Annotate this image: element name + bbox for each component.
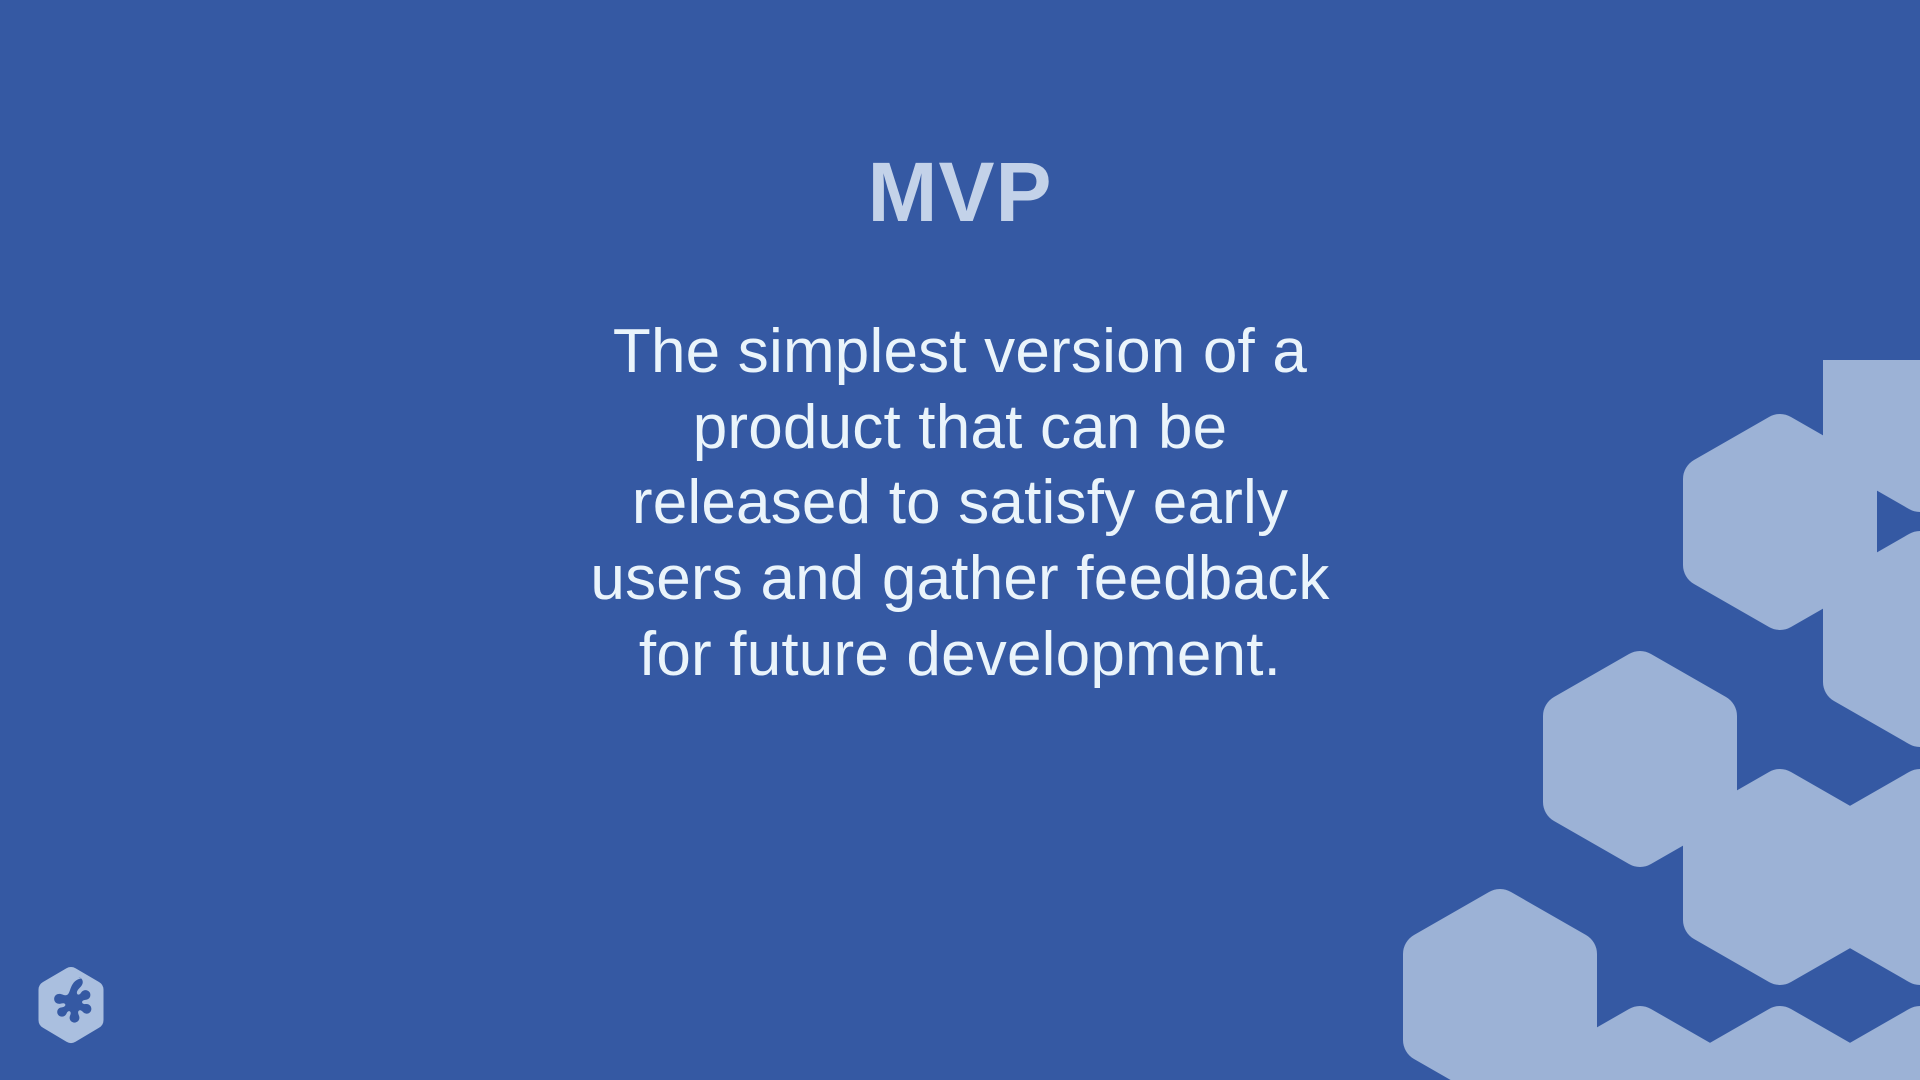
definition-line: for future development. [510,617,1410,693]
slide-canvas: MVP The simplest version of a product th… [0,0,1920,1080]
slide-content: MVP The simplest version of a product th… [0,0,1920,1080]
definition-text: The simplest version of a product that c… [510,314,1410,692]
definition-line: The simplest version of a [510,314,1410,390]
page-title: MVP [867,148,1052,236]
definition-line: product that can be [510,390,1410,466]
definition-line: released to satisfy early [510,465,1410,541]
definition-line: users and gather feedback [510,541,1410,617]
